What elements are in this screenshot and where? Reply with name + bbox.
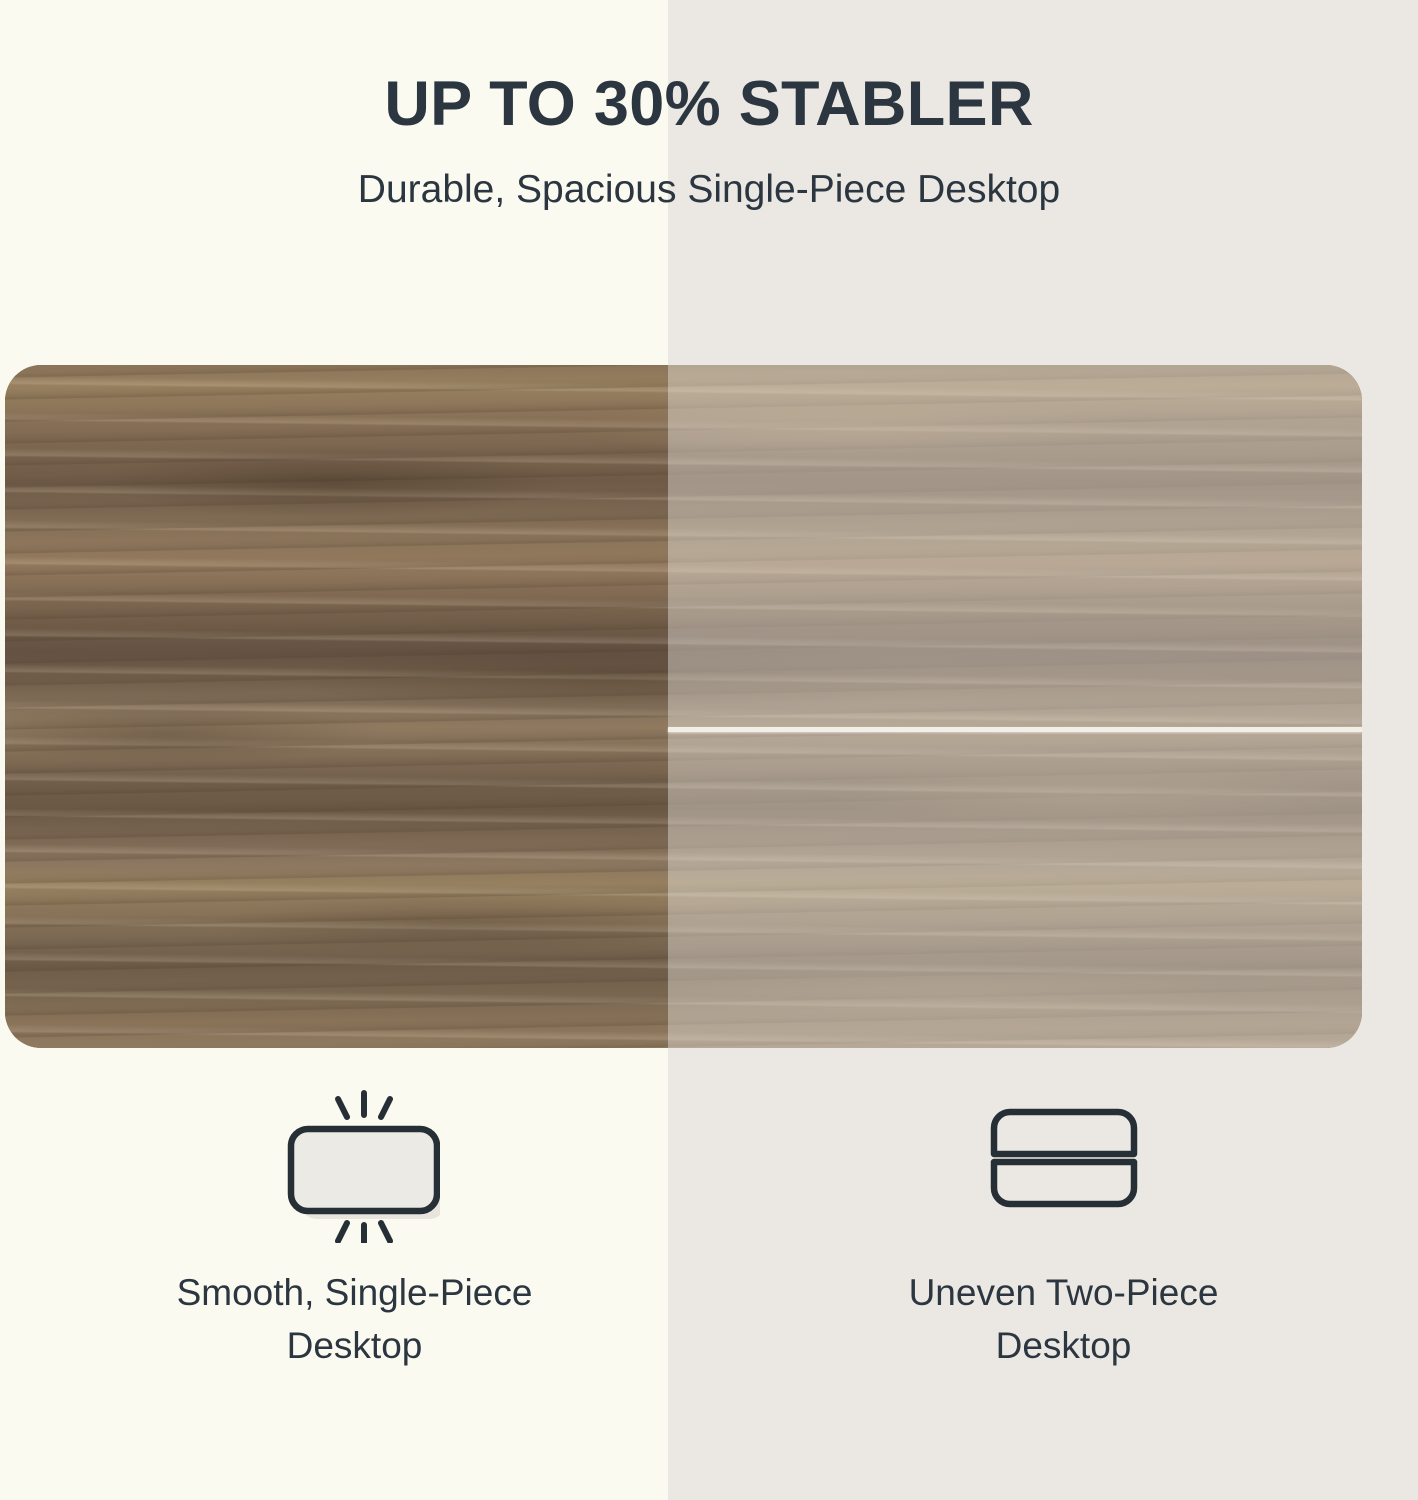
two-panel-stacked-icon	[979, 1083, 1149, 1243]
panel-piece-lower	[994, 1162, 1134, 1204]
comparison-caption-left: Smooth, Single-Piece Desktop	[177, 1245, 533, 1372]
desktop-panel-image	[5, 365, 1362, 1048]
comparison-column-single-piece: Smooth, Single-Piece Desktop	[0, 1080, 709, 1372]
icon-slot-right	[979, 1080, 1149, 1245]
panel-piece-upper	[994, 1112, 1134, 1154]
right-half-overlay	[668, 365, 1362, 1048]
comparison-column-two-piece: Uneven Two-Piece Desktop	[709, 1080, 1418, 1372]
shine-marks-top	[338, 1093, 390, 1117]
comparison-columns: Smooth, Single-Piece Desktop Uneven Two-…	[0, 1080, 1418, 1372]
icon-slot-left	[270, 1080, 440, 1245]
two-piece-seam-line	[668, 727, 1362, 732]
headline: UP TO 30% STABLER	[0, 0, 1418, 138]
comparison-caption-right: Uneven Two-Piece Desktop	[909, 1245, 1219, 1372]
header: UP TO 30% STABLER Durable, Spacious Sing…	[0, 0, 1418, 211]
single-panel-shine-icon	[270, 1083, 440, 1243]
product-comparison-infographic: UP TO 30% STABLER Durable, Spacious Sing…	[0, 0, 1418, 1500]
subheadline: Durable, Spacious Single-Piece Desktop	[0, 138, 1418, 212]
shine-marks-bottom	[338, 1223, 390, 1243]
panel-body	[291, 1129, 437, 1211]
